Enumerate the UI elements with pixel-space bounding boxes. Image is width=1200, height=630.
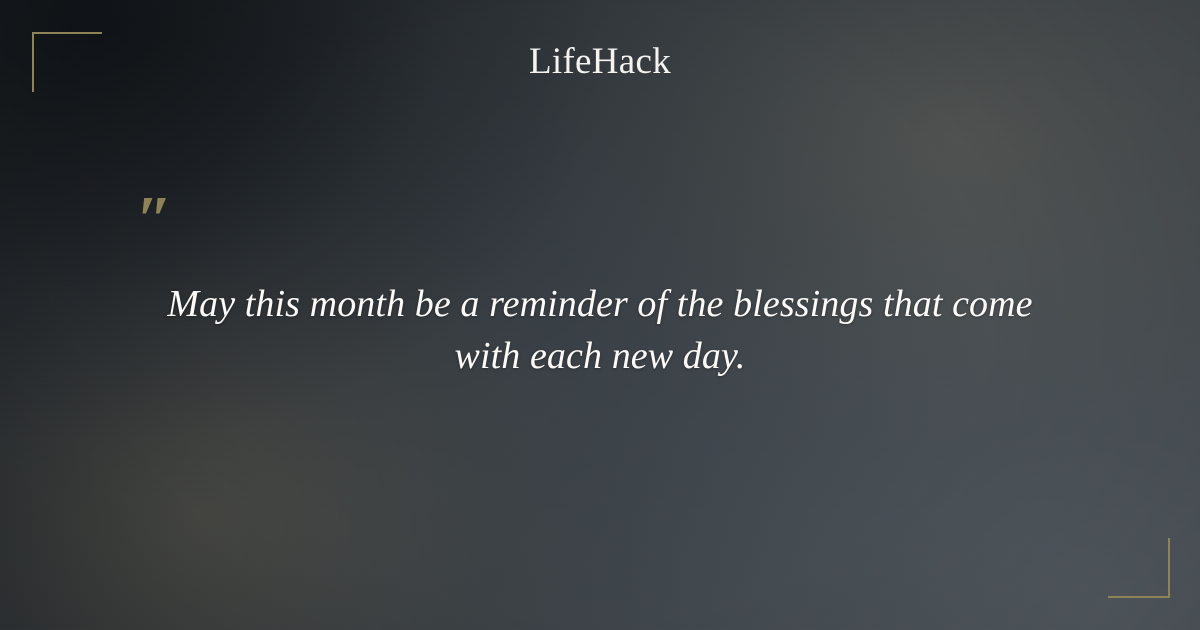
quotation-mark-icon: ″ xyxy=(136,196,1070,244)
quote-text: May this month be a reminder of the bles… xyxy=(130,278,1070,382)
quote-card: LifeHack ″ May this month be a reminder … xyxy=(0,0,1200,630)
corner-bracket-bottom-right-icon xyxy=(1108,538,1170,598)
quote-block: ″ May this month be a reminder of the bl… xyxy=(130,196,1070,382)
brand-logo: LifeHack xyxy=(0,40,1200,84)
corner-bracket-top-left-horizontal-bar xyxy=(32,32,102,34)
corner-bracket-bottom-right-vertical-bar xyxy=(1168,538,1170,598)
corner-bracket-bottom-right-horizontal-bar xyxy=(1108,596,1170,598)
